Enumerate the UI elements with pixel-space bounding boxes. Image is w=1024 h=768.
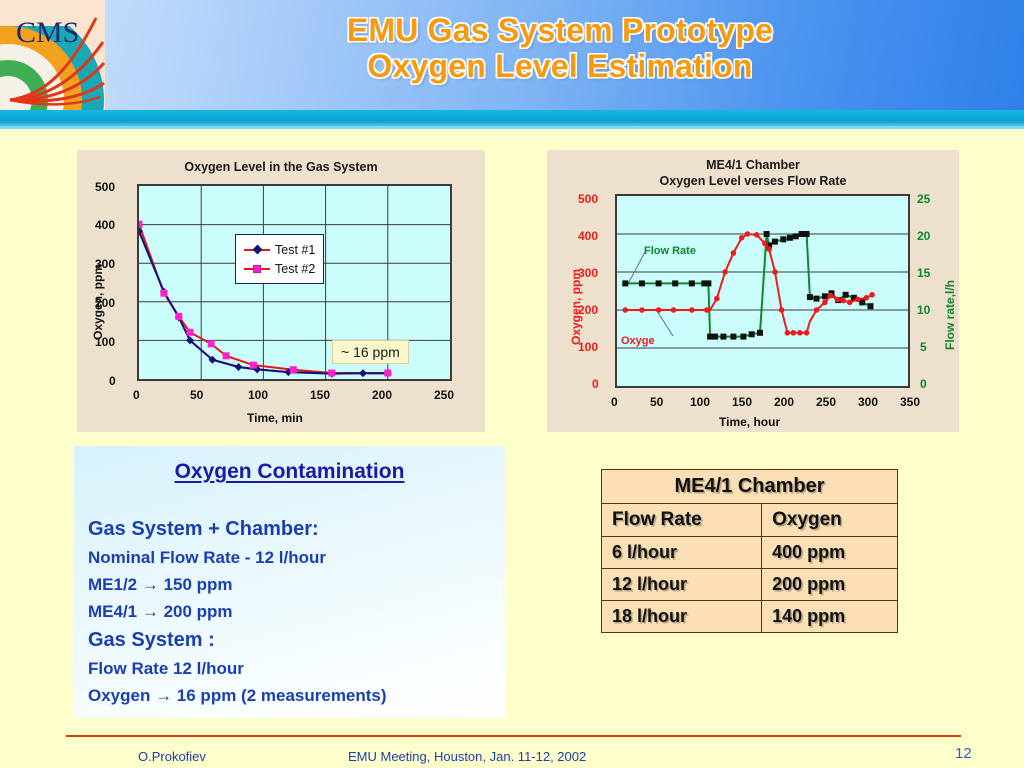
x-tick-left-250: 250 [434,388,454,402]
y-tick-right-right-5: 5 [920,340,927,354]
info-line-4: ME4/1 → 200 ppm [88,598,498,625]
cms-logo: CMS [0,0,105,110]
chart-legend-left: Test #1 Test #2 [235,234,324,284]
chart-title-right-line2: Oxygen Level verses Flow Rate [547,174,959,188]
annotation-16ppm: ~ 16 ppm [332,340,409,364]
x-tick-left-200: 200 [372,388,392,402]
table-header-flow-rate: Flow Rate [602,504,762,537]
table-row-title: ME4/1 Chamber [602,470,898,504]
y-tick-right-left-500: 500 [578,192,598,206]
x-tick-right-150: 150 [732,395,752,409]
slide-header: CMS EMU Gas System Prototype Oxygen Leve… [0,0,1024,110]
table-cell-flow-3: 18 l/hour [602,601,762,633]
x-tick-right-50: 50 [650,395,663,409]
inline-label-oxygen: Oxyge [621,335,655,347]
y-tick-left-400: 400 [95,218,115,232]
y-tick-right-right-25: 25 [917,192,930,206]
table-row: 6 l/hour 400 ppm [602,537,898,569]
chart-panel-oxygen-decay: Oxygen Level in the Gas System 500 400 3… [77,150,485,432]
table-cell-flow-1: 6 l/hour [602,537,762,569]
table-row-header: Flow Rate Oxygen [602,504,898,537]
legend-item-test2: Test #2 [244,259,315,278]
info-line-1: Gas System + Chamber: [88,514,498,544]
y-tick-left-0: 0 [109,374,116,388]
footer-page-number: 12 [955,745,972,762]
x-axis-title-left: Time, min [247,411,303,425]
table-row: 18 l/hour 140 ppm [602,601,898,633]
legend-item-test1: Test #1 [244,240,315,259]
y-tick-right-left-0: 0 [592,377,599,391]
plot-area-right [615,194,910,388]
x-tick-left-50: 50 [190,388,203,402]
footer-divider [66,735,961,737]
x-tick-right-250: 250 [816,395,836,409]
y-axis-title-left-red: Oxygen, ppm [569,269,583,345]
info-line-3: ME1/2 → 150 ppm [88,571,498,598]
legend-marker-diamond-icon [244,245,270,255]
y-axis-title-right-green: Flow rate,l/h [943,280,957,350]
y-tick-right-right-20: 20 [917,229,930,243]
x-tick-right-100: 100 [690,395,710,409]
cms-logo-text: CMS [16,16,79,49]
x-tick-left-100: 100 [248,388,268,402]
table-cell-oxygen-3: 140 ppm [762,601,898,633]
table-header-oxygen: Oxygen [762,504,898,537]
inline-label-flow-rate: Flow Rate [644,245,696,257]
info-line-6: Flow Rate 12 l/hour [88,655,498,682]
info-box-title: Oxygen Contamination [74,460,505,484]
chart-panel-me41: ME4/1 Chamber Oxygen Level verses Flow R… [547,150,959,432]
x-tick-right-350: 350 [900,395,920,409]
footer-meeting: EMU Meeting, Houston, Jan. 11-12, 2002 [348,749,586,764]
y-tick-left-500: 500 [95,180,115,194]
info-line-2: Nominal Flow Rate - 12 l/hour [88,544,498,571]
oxygen-contamination-box: Oxygen Contamination Gas System + Chambe… [74,446,505,718]
y-tick-right-right-15: 15 [917,266,930,280]
header-divider-bar [0,110,1024,126]
table-cell-flow-2: 12 l/hour [602,569,762,601]
y-axis-title-left: Oxygen, ppm [91,264,105,340]
table-cell-oxygen-2: 200 ppm [762,569,898,601]
legend-marker-square-icon [244,264,270,274]
table-row: 12 l/hour 200 ppm [602,569,898,601]
table-title: ME4/1 Chamber [602,470,898,504]
table-cell-oxygen-1: 400 ppm [762,537,898,569]
page-title-line2: Oxygen Level Estimation [180,48,940,84]
header-divider-thin [0,126,1024,129]
x-tick-right-0: 0 [611,395,618,409]
y-tick-right-left-400: 400 [578,229,598,243]
legend-label-test2: Test #2 [275,262,315,276]
page-title: EMU Gas System Prototype Oxygen Level Es… [180,12,940,84]
info-box-lines: Gas System + Chamber: Nominal Flow Rate … [88,514,498,709]
x-tick-left-150: 150 [310,388,330,402]
info-line-5: Gas System : [88,625,498,655]
y-tick-right-right-10: 10 [917,303,930,317]
x-axis-title-right: Time, hour [719,415,780,429]
chart-title-right-line1: ME4/1 Chamber [547,158,959,172]
y-tick-right-right-0: 0 [920,377,927,391]
x-tick-right-300: 300 [858,395,878,409]
me41-chamber-table: ME4/1 Chamber Flow Rate Oxygen 6 l/hour … [601,469,898,633]
page-title-line1: EMU Gas System Prototype [180,12,940,48]
info-line-7: Oxygen → 16 ppm (2 measurements) [88,682,498,709]
footer-author: O.Prokofiev [138,749,206,764]
chart-title-left: Oxygen Level in the Gas System [77,160,485,174]
x-tick-right-200: 200 [774,395,794,409]
x-tick-left-0: 0 [133,388,140,402]
legend-label-test1: Test #1 [275,243,315,257]
